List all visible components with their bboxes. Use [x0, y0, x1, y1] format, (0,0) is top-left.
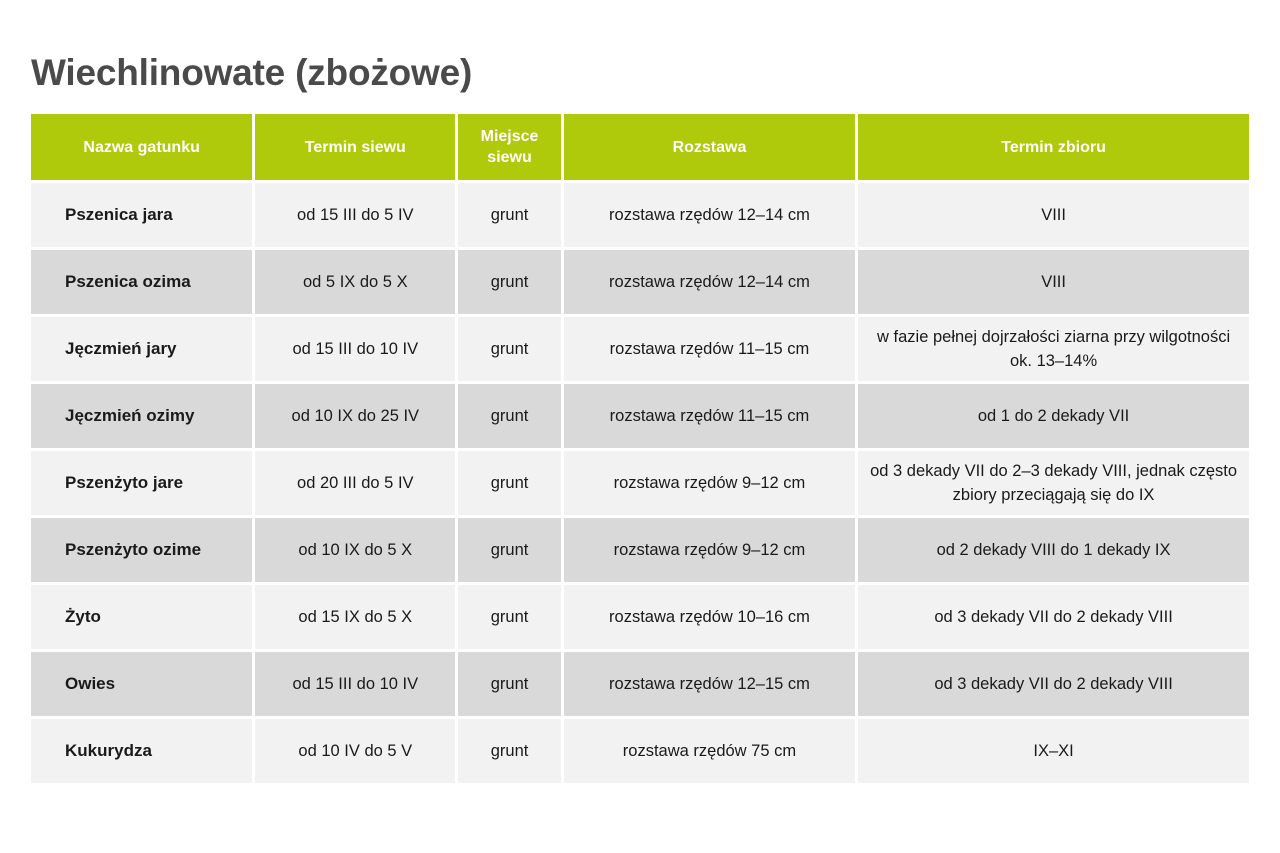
cell-row-spacing: rozstawa rzędów 10–16 cm [564, 585, 855, 649]
table-header-row: Nazwa gatunku Termin siewu Miejsce siewu… [31, 114, 1249, 180]
cell-species-name: Jęczmień ozimy [31, 384, 252, 448]
cell-sowing-place: grunt [458, 451, 561, 515]
species-table-container: Nazwa gatunku Termin siewu Miejsce siewu… [31, 114, 1249, 783]
cell-row-spacing: rozstawa rzędów 9–12 cm [564, 451, 855, 515]
column-header-termin-zbioru: Termin zbioru [858, 114, 1249, 180]
cell-sowing-date: od 15 III do 10 IV [255, 652, 455, 716]
cell-sowing-place: grunt [458, 518, 561, 582]
species-table: Nazwa gatunku Termin siewu Miejsce siewu… [28, 111, 1252, 786]
cell-row-spacing: rozstawa rzędów 12–15 cm [564, 652, 855, 716]
table-row: Jęczmień jary od 15 III do 10 IV grunt r… [31, 317, 1249, 381]
cell-sowing-date: od 10 IX do 5 X [255, 518, 455, 582]
cell-row-spacing: rozstawa rzędów 11–15 cm [564, 384, 855, 448]
cell-harvest-date: IX–XI [858, 719, 1249, 783]
table-row: Pszenżyto jare od 20 III do 5 IV grunt r… [31, 451, 1249, 515]
cell-sowing-date: od 5 IX do 5 X [255, 250, 455, 314]
cell-sowing-place: grunt [458, 183, 561, 247]
page-root: Wiechlinowate (zbożowe) Nazwa gatunku Te… [0, 0, 1280, 853]
cell-species-name: Pszenica jara [31, 183, 252, 247]
cell-sowing-place: grunt [458, 384, 561, 448]
cell-row-spacing: rozstawa rzędów 11–15 cm [564, 317, 855, 381]
cell-species-name: Żyto [31, 585, 252, 649]
cell-sowing-place: grunt [458, 317, 561, 381]
cell-species-name: Kukurydza [31, 719, 252, 783]
column-header-nazwa-gatunku: Nazwa gatunku [31, 114, 252, 180]
cell-sowing-date: od 15 III do 10 IV [255, 317, 455, 381]
cell-harvest-date: od 3 dekady VII do 2–3 dekady VIII, jedn… [858, 451, 1249, 515]
cell-row-spacing: rozstawa rzędów 12–14 cm [564, 183, 855, 247]
column-header-termin-siewu: Termin siewu [255, 114, 455, 180]
cell-sowing-date: od 10 IV do 5 V [255, 719, 455, 783]
cell-sowing-place: grunt [458, 652, 561, 716]
cell-row-spacing: rozstawa rzędów 12–14 cm [564, 250, 855, 314]
table-row: Jęczmień ozimy od 10 IX do 25 IV grunt r… [31, 384, 1249, 448]
cell-species-name: Owies [31, 652, 252, 716]
table-row: Żyto od 15 IX do 5 X grunt rozstawa rzęd… [31, 585, 1249, 649]
cell-sowing-place: grunt [458, 250, 561, 314]
page-title: Wiechlinowate (zbożowe) [31, 51, 472, 95]
cell-sowing-place: grunt [458, 719, 561, 783]
column-header-rozstawa: Rozstawa [564, 114, 855, 180]
cell-species-name: Pszenżyto jare [31, 451, 252, 515]
cell-harvest-date: od 2 dekady VIII do 1 dekady IX [858, 518, 1249, 582]
cell-sowing-date: od 15 III do 5 IV [255, 183, 455, 247]
cell-sowing-date: od 15 IX do 5 X [255, 585, 455, 649]
table-body: Pszenica jara od 15 III do 5 IV grunt ro… [31, 183, 1249, 783]
table-row: Kukurydza od 10 IV do 5 V grunt rozstawa… [31, 719, 1249, 783]
cell-species-name: Jęczmień jary [31, 317, 252, 381]
cell-harvest-date: w fazie pełnej dojrzałości ziarna przy w… [858, 317, 1249, 381]
table-row: Owies od 15 III do 10 IV grunt rozstawa … [31, 652, 1249, 716]
cell-harvest-date: VIII [858, 183, 1249, 247]
cell-species-name: Pszenica ozima [31, 250, 252, 314]
cell-harvest-date: od 3 dekady VII do 2 dekady VIII [858, 585, 1249, 649]
cell-sowing-date: od 10 IX do 25 IV [255, 384, 455, 448]
cell-row-spacing: rozstawa rzędów 9–12 cm [564, 518, 855, 582]
table-row: Pszenica ozima od 5 IX do 5 X grunt rozs… [31, 250, 1249, 314]
cell-harvest-date: od 1 do 2 dekady VII [858, 384, 1249, 448]
table-row: Pszenżyto ozime od 10 IX do 5 X grunt ro… [31, 518, 1249, 582]
cell-sowing-date: od 20 III do 5 IV [255, 451, 455, 515]
cell-harvest-date: VIII [858, 250, 1249, 314]
cell-harvest-date: od 3 dekady VII do 2 dekady VIII [858, 652, 1249, 716]
table-header: Nazwa gatunku Termin siewu Miejsce siewu… [31, 114, 1249, 180]
cell-row-spacing: rozstawa rzędów 75 cm [564, 719, 855, 783]
cell-sowing-place: grunt [458, 585, 561, 649]
cell-species-name: Pszenżyto ozime [31, 518, 252, 582]
column-header-miejsce-siewu: Miejsce siewu [458, 114, 561, 180]
table-row: Pszenica jara od 15 III do 5 IV grunt ro… [31, 183, 1249, 247]
